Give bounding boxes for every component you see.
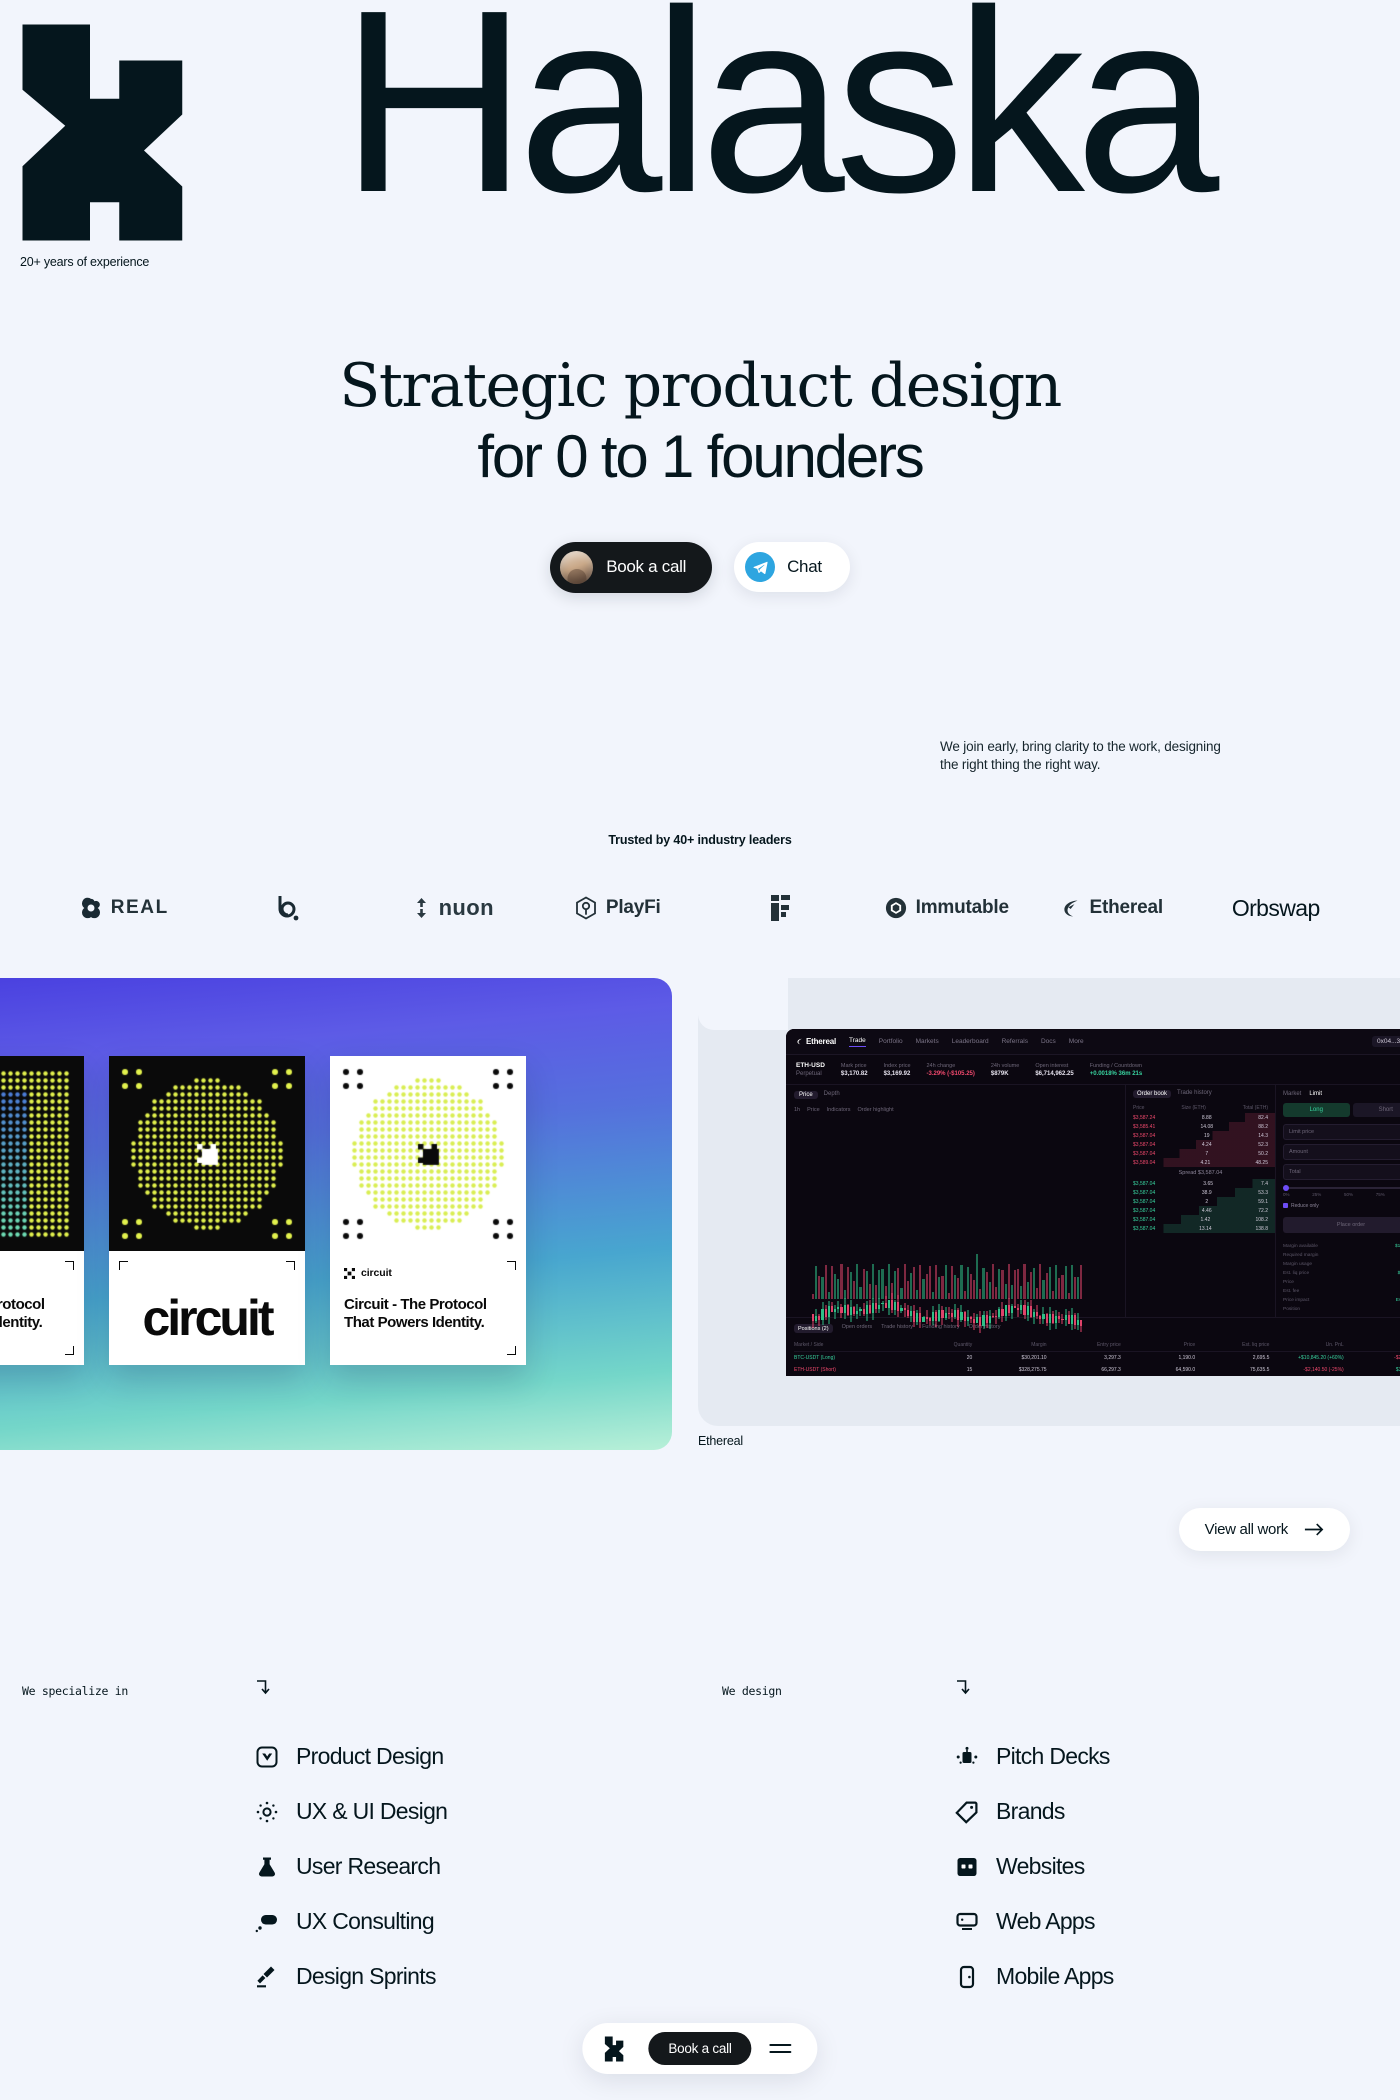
client-logo-label: PlayFi bbox=[606, 897, 661, 919]
tui-stat-funding: Funding / Countdown+0.0018% 36m 21s bbox=[1090, 1063, 1143, 1077]
service-item-pitch-decks[interactable]: Pitch Decks bbox=[954, 1729, 1400, 1784]
speech-bubble-icon bbox=[254, 1909, 280, 1935]
client-logo-playfi[interactable]: PlayFi bbox=[536, 878, 701, 938]
brightness-sun-icon bbox=[254, 1799, 280, 1825]
client-logo-f[interactable] bbox=[700, 878, 865, 938]
tui-orderbook-row[interactable]: $3,587.044.4672.2 bbox=[1126, 1206, 1275, 1215]
tui-size-slider[interactable] bbox=[1283, 1187, 1400, 1189]
crop-mark-icon bbox=[65, 1346, 74, 1355]
tui-chart-tab-depth[interactable]: Depth bbox=[824, 1091, 840, 1099]
tui-positions-tab[interactable]: Funding history bbox=[922, 1324, 960, 1333]
tui-pair[interactable]: ETH-USD Perpetual bbox=[796, 1062, 825, 1077]
hamburger-menu-icon[interactable] bbox=[770, 2036, 796, 2062]
trusted-heading: Trusted by 40+ industry leaders bbox=[0, 833, 1400, 847]
tui-positions-tab[interactable]: Trade history bbox=[881, 1324, 913, 1333]
tui-orderbook-buys: $3,587.043.657.4$3,587.0438.953.3$3,587.… bbox=[1126, 1179, 1275, 1233]
tui-field-limit-price[interactable]: Limit price0.00 bbox=[1283, 1124, 1400, 1140]
real-clover-icon bbox=[80, 897, 102, 919]
tui-orderbook-row[interactable]: $3,587.043.657.4 bbox=[1126, 1179, 1275, 1188]
tui-nav-markets[interactable]: Markets bbox=[916, 1038, 939, 1045]
circuit-poster-group: circuit Circuit - The Protocol That Powe… bbox=[0, 1056, 526, 1365]
crop-mark-icon bbox=[286, 1261, 295, 1270]
flask-icon bbox=[254, 1854, 280, 1880]
service-label: Product Design bbox=[296, 1743, 443, 1770]
client-logo-orbswap[interactable]: Orbswap bbox=[1194, 878, 1359, 938]
tui-stat-open-interest: Open interest$6,714,962.25 bbox=[1035, 1063, 1073, 1077]
tui-stat-index-price: Index price$3,169.92 bbox=[884, 1063, 911, 1077]
tui-positions-panel: Positions (2)Open ordersTrade historyFun… bbox=[786, 1317, 1400, 1376]
browser-window-icon bbox=[954, 1854, 980, 1880]
table-cell: 1,190.0 bbox=[1121, 1355, 1195, 1361]
crop-mark-icon bbox=[507, 1261, 516, 1270]
work-card-circuit[interactable]: circuit Circuit - The Protocol That Powe… bbox=[0, 978, 672, 1450]
headline-line-2: for 0 to 1 founders bbox=[0, 423, 1400, 490]
tui-navbar: Ethereal Trade Portfolio Markets Leaderb… bbox=[786, 1029, 1400, 1055]
poster-wordmark: circuit bbox=[123, 1289, 291, 1347]
tui-positions-col: Quantity bbox=[898, 1342, 972, 1348]
service-item-web-apps[interactable]: Web Apps bbox=[954, 1894, 1400, 1949]
checkbox-icon[interactable] bbox=[1283, 1203, 1288, 1208]
avatar bbox=[560, 551, 593, 584]
tui-positions-col: Un. PnL bbox=[1269, 1342, 1343, 1348]
presentation-chart-icon bbox=[954, 1744, 980, 1770]
tui-order-form: Market Limit Long Short Limit price0.00 … bbox=[1276, 1085, 1400, 1317]
table-cell: $3,105.25 bbox=[1344, 1367, 1400, 1373]
view-all-work-button[interactable]: View all work bbox=[1179, 1508, 1350, 1551]
poster-title: Circuit - The Protocol That Powers Ident… bbox=[0, 1296, 70, 1331]
tui-slider-ticks: 0% 25% 50% 75% 100% bbox=[1283, 1192, 1400, 1197]
tui-positions-col: Margin bbox=[972, 1342, 1046, 1348]
tui-ob-tab-trades[interactable]: Trade history bbox=[1177, 1090, 1212, 1098]
tui-chart-toolbar: 1h Price Indicators Order highlight bbox=[786, 1105, 1125, 1117]
hero-wordmark-block: Halaska 20+ years of experience bbox=[0, 0, 1400, 250]
table-cell: 2,695.5 bbox=[1195, 1355, 1269, 1361]
service-item-design-sprints[interactable]: Design Sprints bbox=[254, 1949, 700, 2004]
service-item-user-research[interactable]: User Research bbox=[254, 1839, 700, 1894]
work-card-ethereal[interactable]: Ethereal Trade Portfolio Markets Leaderb… bbox=[698, 978, 1400, 1458]
tui-positions-col: Entry price bbox=[1047, 1342, 1121, 1348]
service-label: UX Consulting bbox=[296, 1908, 434, 1935]
hero-headline: Strategic product design for 0 to 1 foun… bbox=[0, 355, 1400, 490]
table-cell: $328,275.75 bbox=[972, 1367, 1046, 1373]
tui-chart-tab-price[interactable]: Price bbox=[794, 1091, 818, 1099]
client-logo-nuon[interactable]: nuon bbox=[371, 878, 536, 938]
tui-ob-tab-book[interactable]: Order book bbox=[1133, 1090, 1171, 1098]
services-list-specialize: Product Design UX & UI Design User Resea… bbox=[254, 1680, 700, 2004]
table-cell: 75,635.5 bbox=[1195, 1367, 1269, 1373]
client-logo-label: nuon bbox=[439, 895, 494, 921]
playfi-hex-icon bbox=[575, 896, 597, 920]
microscope-icon bbox=[254, 1964, 280, 1990]
services-column-specialize: We specialize in Product Design UX & U bbox=[0, 1680, 700, 2004]
nuon-arrows-icon bbox=[413, 898, 430, 918]
client-logo-real[interactable]: REAL bbox=[42, 878, 207, 938]
tui-orderbook-columns: Price Size (ETH) Total (ETH) bbox=[1126, 1103, 1275, 1113]
table-cell: 66,297.3 bbox=[1047, 1367, 1121, 1373]
tag-icon bbox=[954, 1799, 980, 1825]
service-label: Web Apps bbox=[996, 1908, 1095, 1935]
tui-brand-label: Ethereal bbox=[806, 1037, 836, 1046]
tui-orderbook-row[interactable]: $3,587.0413.14138.8 bbox=[1126, 1224, 1275, 1233]
tui-nav-trade[interactable]: Trade bbox=[849, 1037, 866, 1047]
client-logo-label: Immutable bbox=[916, 897, 1009, 919]
service-label: Websites bbox=[996, 1853, 1085, 1880]
client-logo-label: Ethereal bbox=[1090, 897, 1163, 919]
tui-orderbook-row[interactable]: $3,585.4114.0888.2 bbox=[1126, 1122, 1275, 1131]
ethereal-notch bbox=[698, 978, 788, 1030]
service-label: User Research bbox=[296, 1853, 440, 1880]
tui-side-long[interactable]: Long bbox=[1283, 1103, 1350, 1117]
client-logo-label: Orbswap bbox=[1232, 895, 1320, 922]
tui-order-book: Order book Trade history Price Size (ETH… bbox=[1126, 1085, 1276, 1317]
tui-orderbook-spread: Spread $3,587.04 bbox=[1126, 1167, 1275, 1179]
tui-stat-24h-change: 24h change-3.29% (-$105.25) bbox=[927, 1063, 975, 1077]
table-cell: 20 bbox=[898, 1355, 972, 1361]
services-column-design: We design Pitch Decks Bra bbox=[700, 1680, 1400, 2004]
phone-icon bbox=[954, 1964, 980, 1990]
tui-positions-tab[interactable]: Open orders bbox=[842, 1324, 873, 1333]
tui-orderbook-row[interactable]: $3,587.04750.2 bbox=[1126, 1149, 1275, 1158]
table-cell: 64,590.0 bbox=[1121, 1367, 1195, 1373]
tui-nav-leaderboard[interactable]: Leaderboard bbox=[952, 1038, 989, 1045]
tui-order-tab-market[interactable]: Market bbox=[1283, 1091, 1301, 1097]
service-label: Design Sprints bbox=[296, 1963, 436, 1990]
tui-positions-col: Market / Side bbox=[794, 1342, 898, 1348]
tui-volume-series bbox=[812, 1257, 1083, 1299]
tui-orderbook-row[interactable]: $3,589.044.2148.25 bbox=[1126, 1158, 1275, 1167]
service-item-websites[interactable]: Websites bbox=[954, 1839, 1400, 1894]
poster-brand: circuit bbox=[0, 1267, 70, 1279]
floating-bottom-bar: Book a call bbox=[582, 2023, 817, 2074]
tui-place-order-button[interactable]: Place order bbox=[1283, 1217, 1400, 1233]
tui-positions-header: Market / SideQuantityMarginEntry pricePr… bbox=[794, 1339, 1400, 1352]
tui-side-short[interactable]: Short bbox=[1353, 1103, 1400, 1117]
service-label: UX & UI Design bbox=[296, 1798, 447, 1825]
poster-body: circuit bbox=[109, 1251, 305, 1365]
tui-price-chart: Price Depth 1h Price Indicators Order hi… bbox=[786, 1085, 1126, 1317]
table-cell: 15 bbox=[898, 1367, 972, 1373]
halaska-h-mark-icon[interactable] bbox=[604, 2036, 630, 2062]
immutable-cube-icon bbox=[885, 897, 907, 919]
u9-glyph-icon bbox=[276, 893, 302, 923]
table-cell: -$2,140.50 (-25%) bbox=[1269, 1367, 1343, 1373]
table-cell: -$2,106.15 bbox=[1344, 1355, 1400, 1361]
tui-positions-col: Funding bbox=[1344, 1342, 1400, 1348]
poster-title: Circuit - The Protocol That Powers Ident… bbox=[344, 1296, 512, 1331]
tui-orderbook-row[interactable]: $3,587.041.42108.2 bbox=[1126, 1215, 1275, 1224]
tui-order-tab-limit[interactable]: Limit bbox=[1309, 1091, 1322, 1097]
headline-line-1: Strategic product design bbox=[0, 355, 1400, 419]
service-item-product-design[interactable]: Product Design bbox=[254, 1729, 700, 1784]
tui-orderbook-sells: $3,587.248.8882.4$3,585.4114.0888.2$3,58… bbox=[1126, 1113, 1275, 1167]
book-a-call-button[interactable]: Book a call bbox=[550, 542, 712, 593]
tui-nav-portfolio[interactable]: Portfolio bbox=[879, 1038, 903, 1045]
tui-summary-row: Required margin- bbox=[1283, 1251, 1400, 1260]
view-all-work-label: View all work bbox=[1205, 1521, 1288, 1538]
service-item-ux-consulting[interactable]: UX Consulting bbox=[254, 1894, 700, 1949]
brand-wordmark: Halaska bbox=[340, 0, 1209, 232]
circuit-mark-icon bbox=[344, 1268, 355, 1279]
table-cell: +$10,845.20 (+60%) bbox=[1269, 1355, 1343, 1361]
table-row[interactable]: ETH-USDT (Short)15$328,275.7566,297.364,… bbox=[794, 1364, 1400, 1376]
tui-stat-24h-volume: 24h volume$879K bbox=[991, 1063, 1019, 1077]
crop-mark-icon bbox=[119, 1261, 128, 1270]
tui-orderbook-row[interactable]: $3,587.248.8882.4 bbox=[1126, 1113, 1275, 1122]
service-item-brands[interactable]: Brands bbox=[954, 1784, 1400, 1839]
poster-art-dots-light bbox=[330, 1056, 526, 1251]
ethereal-app-screenshot: Ethereal Trade Portfolio Markets Leaderb… bbox=[786, 1029, 1400, 1376]
tui-ticker-bar: ETH-USD Perpetual Mark price$3,170.82 In… bbox=[786, 1055, 1400, 1085]
tui-positions-col: Est. liq price bbox=[1195, 1342, 1269, 1348]
table-cell: BTC-USDT (Long) bbox=[794, 1355, 898, 1361]
services-section: We specialize in Product Design UX & U bbox=[0, 1680, 1400, 2004]
tui-summary-row: Price impactEst. 0.00% bbox=[1283, 1296, 1400, 1305]
bottom-book-a-call-button[interactable]: Book a call bbox=[648, 2032, 751, 2065]
table-cell: ETH-USDT (Short) bbox=[794, 1367, 898, 1373]
ethereal-swoosh-icon bbox=[1060, 898, 1081, 919]
tui-order-summary: Margin available$10,000.00Required margi… bbox=[1283, 1242, 1400, 1314]
tui-summary-row: Margin usage- bbox=[1283, 1260, 1400, 1269]
tui-main-area: Price Depth 1h Price Indicators Order hi… bbox=[786, 1085, 1400, 1317]
tui-orderbook-tabs: Order book Trade history bbox=[1126, 1090, 1275, 1103]
tui-positions-col: Price bbox=[1121, 1342, 1195, 1348]
poster-brand-label: circuit bbox=[361, 1267, 392, 1279]
services-kicker-specialize: We specialize in bbox=[22, 1680, 254, 2004]
tui-summary-row: Margin available$10,000.00 bbox=[1283, 1242, 1400, 1251]
circuit-poster-2: circuit bbox=[109, 1056, 305, 1365]
service-label: Brands bbox=[996, 1798, 1065, 1825]
arrow-right-icon bbox=[1304, 1522, 1324, 1537]
client-logo-immutable[interactable]: Immutable bbox=[865, 878, 1030, 938]
tui-orderbook-row[interactable]: $3,587.041914.3 bbox=[1126, 1131, 1275, 1140]
client-logo-ethereal[interactable]: Ethereal bbox=[1029, 878, 1194, 938]
tui-orderbook-row[interactable]: $3,587.044.2452.3 bbox=[1126, 1140, 1275, 1149]
poster-art-dots-lime bbox=[109, 1056, 305, 1251]
tui-tool-price[interactable]: Price bbox=[807, 1107, 820, 1113]
ethereal-caption: Ethereal bbox=[698, 1434, 743, 1448]
years-of-experience-label: 20+ years of experience bbox=[20, 255, 149, 269]
tui-order-type-tabs: Market Limit bbox=[1283, 1091, 1400, 1097]
service-item-mobile-apps[interactable]: Mobile Apps bbox=[954, 1949, 1400, 2004]
tui-summary-row: Est. liq price$2,233.00 bbox=[1283, 1269, 1400, 1278]
tui-positions-rows: BTC-USDT (Long)20$30,201.103,297.31,190.… bbox=[794, 1352, 1400, 1376]
tui-brand: Ethereal bbox=[796, 1037, 836, 1046]
tui-candlestick-series bbox=[812, 1129, 1083, 1249]
telegram-icon bbox=[745, 552, 775, 582]
monitor-icon bbox=[954, 1909, 980, 1935]
tui-tool-indicators[interactable]: Indicators bbox=[827, 1107, 851, 1113]
service-item-ux-ui-design[interactable]: UX & UI Design bbox=[254, 1784, 700, 1839]
tui-summary-row: Est. fee- bbox=[1283, 1287, 1400, 1296]
chat-label: Chat bbox=[787, 557, 822, 577]
client-logo-label: REAL bbox=[111, 897, 169, 919]
tui-wallet-chip[interactable]: 0x04...3465 bbox=[1372, 1036, 1400, 1047]
services-list-design: Pitch Decks Brands Websites Web Apps bbox=[954, 1680, 1400, 2004]
table-row[interactable]: BTC-USDT (Long)20$30,201.103,297.31,190.… bbox=[794, 1352, 1400, 1364]
tui-side-toggle: Long Short bbox=[1283, 1103, 1400, 1117]
table-cell: 3,297.3 bbox=[1047, 1355, 1121, 1361]
poster-art-dots-blue bbox=[0, 1056, 84, 1251]
chat-button[interactable]: Chat bbox=[734, 542, 850, 592]
tui-nav-more[interactable]: More bbox=[1069, 1038, 1084, 1045]
crop-mark-icon bbox=[507, 1346, 516, 1355]
poster-brand: circuit bbox=[344, 1267, 512, 1279]
tui-tool-interval[interactable]: 1h bbox=[794, 1107, 800, 1113]
hero-tagline: We join early, bring clarity to the work… bbox=[940, 738, 1230, 774]
tui-field-total[interactable]: Total0.00 bbox=[1283, 1164, 1400, 1180]
tui-field-amount[interactable]: Amount0.00 bbox=[1283, 1144, 1400, 1160]
tui-orderbook-row[interactable]: $3,587.0438.953.3 bbox=[1126, 1188, 1275, 1197]
service-label: Pitch Decks bbox=[996, 1743, 1110, 1770]
tui-nav-referrals[interactable]: Referrals bbox=[1002, 1038, 1028, 1045]
arrow-turn-down-icon bbox=[954, 1680, 972, 1696]
service-label: Mobile Apps bbox=[996, 1963, 1114, 1990]
tui-summary-row: Price- bbox=[1283, 1278, 1400, 1287]
tui-summary-row: Position- bbox=[1283, 1305, 1400, 1314]
tui-tool-order-highlight[interactable]: Order highlight bbox=[858, 1107, 894, 1113]
f-blocks-icon bbox=[769, 893, 795, 923]
book-a-call-label: Book a call bbox=[606, 557, 686, 577]
tui-reduce-only-row[interactable]: Reduce only bbox=[1283, 1203, 1400, 1209]
poster-body: circuit Circuit - The Protocol That Powe… bbox=[330, 1251, 526, 1365]
tui-orderbook-row[interactable]: $3,587.04259.1 bbox=[1126, 1197, 1275, 1206]
crop-mark-icon bbox=[65, 1261, 74, 1270]
tui-positions-tabs: Positions (2)Open ordersTrade historyFun… bbox=[794, 1324, 1400, 1333]
client-logo-u9[interactable] bbox=[207, 878, 372, 938]
arrow-turn-down-icon bbox=[254, 1680, 272, 1696]
hero-cta-row: Book a call Chat bbox=[0, 542, 1400, 593]
circuit-poster-3: circuit Circuit - The Protocol That Powe… bbox=[330, 1056, 526, 1365]
tui-chart-tabs: Price Depth bbox=[786, 1085, 1125, 1105]
tui-nav-docs[interactable]: Docs bbox=[1041, 1038, 1056, 1045]
services-kicker-design: We design bbox=[722, 1680, 954, 2004]
poster-body: circuit Circuit - The Protocol That Powe… bbox=[0, 1251, 84, 1365]
heart-square-icon bbox=[254, 1744, 280, 1770]
tui-stat-mark-price: Mark price$3,170.82 bbox=[841, 1063, 868, 1077]
table-cell: $30,201.10 bbox=[972, 1355, 1046, 1361]
circuit-poster-1: circuit Circuit - The Protocol That Powe… bbox=[0, 1056, 84, 1365]
halaska-h-mark-icon[interactable] bbox=[18, 20, 243, 245]
work-showcase-row: circuit Circuit - The Protocol That Powe… bbox=[0, 978, 1400, 1458]
client-logo-strip: REAL nuon PlayFi Immutable bbox=[0, 878, 1400, 938]
